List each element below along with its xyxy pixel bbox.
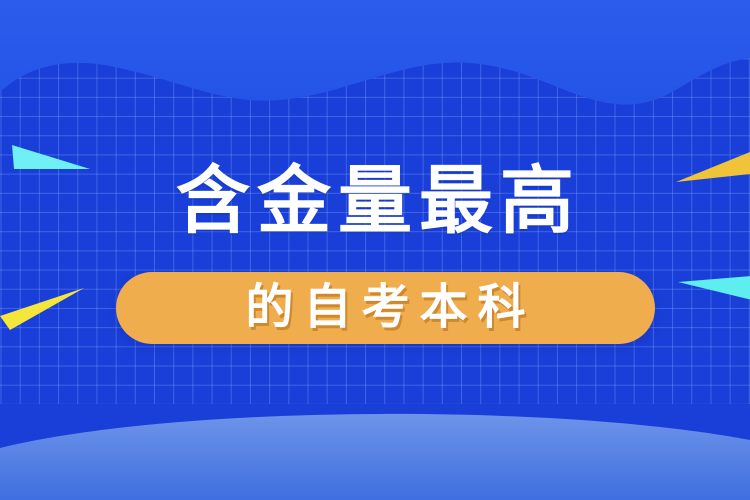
promo-banner: 含金量最高 的自考本科: [0, 0, 750, 500]
subtitle-pill-label: 的自考本科: [116, 272, 655, 344]
wave-bottom-shape: [0, 0, 750, 500]
headline-text: 含金量最高: [0, 164, 750, 238]
triangle-cyan-right-icon: [678, 274, 750, 306]
triangle-yellow-left-icon: [0, 286, 86, 334]
subtitle-pill: 的自考本科: [116, 272, 655, 344]
